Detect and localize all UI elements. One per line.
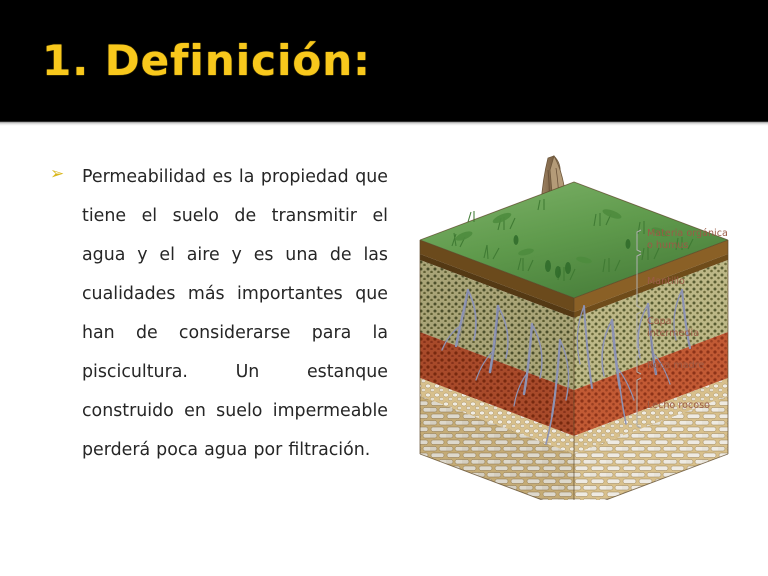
header-divider xyxy=(0,121,768,126)
definition-paragraph: Permeabilidad es la propiedad que tiene … xyxy=(48,158,388,470)
soil-profile-figure: Materia orgánica o humus Mantillo Capa i… xyxy=(398,140,750,500)
label-materia-organica-line2: o humus xyxy=(647,240,689,251)
soil-profile-illustration: Materia orgánica o humus Mantillo Capa i… xyxy=(398,140,750,500)
label-materia-organica-line1: Materia orgánica xyxy=(647,227,728,239)
slide: 1. Definición: ➢ Permeabilidad es la pro… xyxy=(0,0,768,576)
bullet-arrow-icon: ➢ xyxy=(50,166,64,183)
label-capa-intermedia-line2: intermedia xyxy=(647,328,699,339)
label-capa-intermedia-line1: Capa xyxy=(647,316,672,327)
label-lecho-rocoso: Lecho rocoso xyxy=(647,400,710,411)
page-title: 1. Definición: xyxy=(42,36,371,85)
label-mantillo: Mantillo xyxy=(647,276,685,287)
body-text-block: ➢ Permeabilidad es la propiedad que tien… xyxy=(48,158,388,470)
label-roca-madre: Roca madre xyxy=(647,360,704,371)
